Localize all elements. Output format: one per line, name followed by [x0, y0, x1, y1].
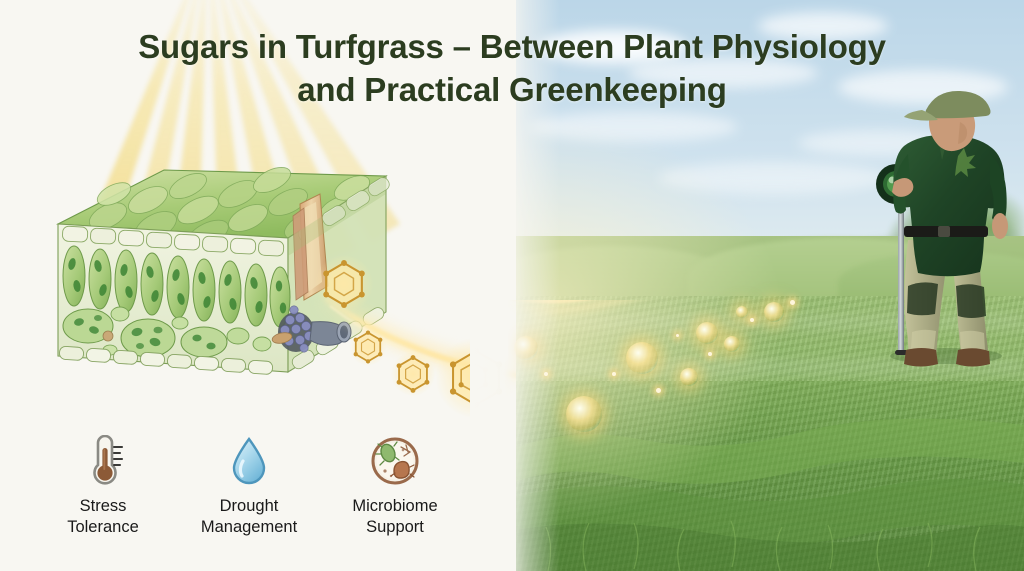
feature-label: Drought Management: [201, 496, 297, 538]
glow-orb: [764, 302, 784, 322]
sparkle: [708, 352, 712, 356]
boot-right: [956, 348, 990, 366]
glow-orb: [680, 368, 698, 386]
title-line-2: and Practical Greenkeeping: [68, 69, 956, 112]
glow-orb: [566, 396, 602, 432]
sparkle: [676, 334, 679, 337]
feature-label: Stress Tolerance: [67, 496, 139, 538]
feature-drought-management: Drought Management: [180, 432, 318, 538]
glow-orb: [736, 306, 748, 318]
glow-orb: [626, 342, 658, 374]
microbiome-icon: [370, 432, 420, 490]
greenkeeper-figure: [838, 88, 1024, 378]
sugar-hexagon: [315, 255, 374, 314]
feature-microbiome-support: Microbiome Support: [326, 432, 464, 538]
sparkle: [656, 388, 661, 393]
feature-stress-tolerance: Stress Tolerance: [34, 432, 172, 538]
sparkle: [790, 300, 795, 305]
sparkle: [750, 318, 754, 322]
feature-list: Stress Tolerance Drought Managemen: [34, 432, 464, 550]
hand-right: [992, 213, 1008, 239]
feature-label: Microbiome Support: [352, 496, 437, 538]
glow-orb: [514, 336, 538, 360]
sparkle: [544, 372, 548, 376]
sugar-hexagon: [349, 328, 386, 365]
page-title: Sugars in Turfgrass – Between Plant Phys…: [0, 26, 1024, 112]
title-line-1: Sugars in Turfgrass – Between Plant Phys…: [138, 28, 886, 65]
glow-orb: [696, 322, 718, 344]
sugar-hexagon: [436, 338, 517, 419]
glow-orb: [724, 336, 740, 352]
boot-left: [904, 348, 938, 367]
water-drop-icon: [227, 432, 271, 490]
sparkle: [612, 372, 616, 376]
sugar-molecule-flow: [300, 250, 516, 440]
sugar-hexagon: [391, 352, 435, 396]
starch-granule: [103, 331, 113, 341]
infographic-banner: Sugars in Turfgrass – Between Plant Phys…: [0, 0, 1024, 571]
thermometer-icon: [81, 432, 125, 490]
